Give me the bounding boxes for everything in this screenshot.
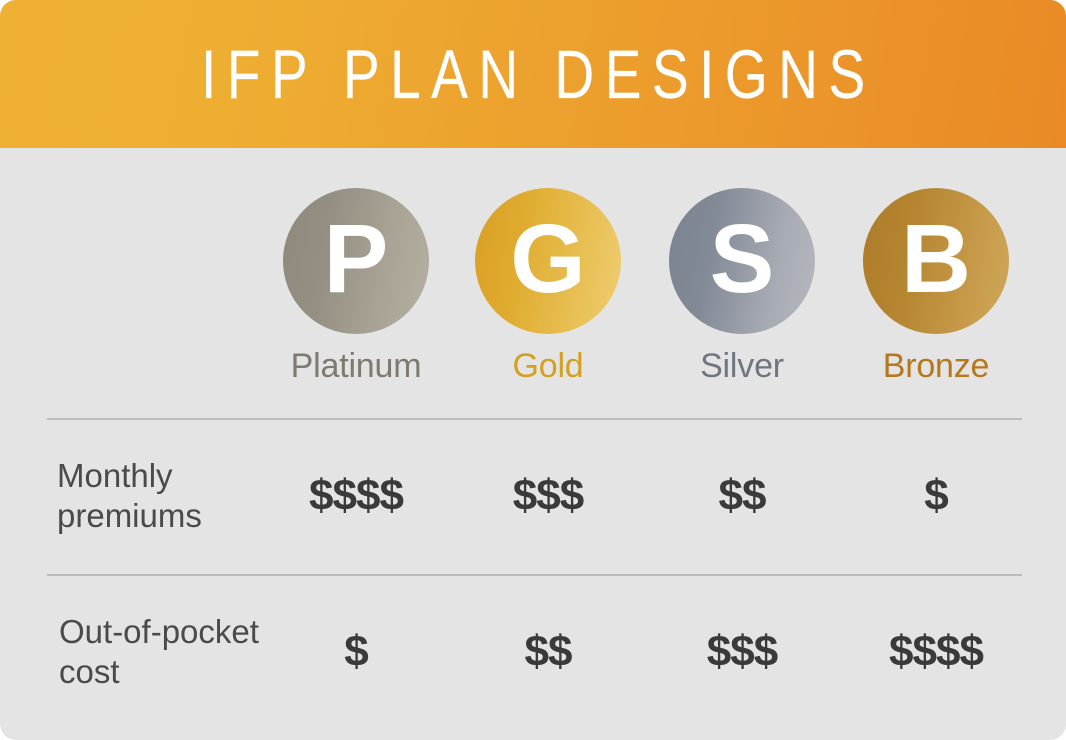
plan-badge-gold: G — [475, 188, 621, 334]
plan-label-gold: Gold — [458, 348, 638, 385]
cell-out-of-pocket-platinum: $ — [266, 574, 446, 730]
plan-badges-row: P Platinum G Gold S Silver B Bronze — [0, 188, 1066, 400]
plan-badge-platinum: P — [283, 188, 429, 334]
cell-monthly-premiums-gold: $$$ — [458, 418, 638, 574]
row-label-monthly-premiums: Monthly premiums — [57, 418, 287, 574]
table-row: Monthly premiums $$$$ $$$ $$ $ — [0, 418, 1066, 574]
plan-column-platinum: P Platinum — [266, 188, 446, 385]
plan-label-bronze: Bronze — [846, 348, 1026, 385]
cell-out-of-pocket-bronze: $$$$ — [846, 574, 1026, 730]
table-row: Out-of-pocket cost $ $$ $$$ $$$$ — [0, 574, 1066, 730]
plan-badge-letter: S — [710, 210, 775, 307]
cell-monthly-premiums-silver: $$ — [652, 418, 832, 574]
plan-label-platinum: Platinum — [266, 348, 446, 385]
cell-monthly-premiums-platinum: $$$$ — [266, 418, 446, 574]
cell-out-of-pocket-silver: $$$ — [652, 574, 832, 730]
page-title: IFP PLAN DESIGNS — [190, 40, 875, 109]
cell-out-of-pocket-gold: $$ — [458, 574, 638, 730]
plan-label-silver: Silver — [652, 348, 832, 385]
plan-column-gold: G Gold — [458, 188, 638, 385]
plan-badge-letter: P — [324, 210, 389, 307]
plan-column-bronze: B Bronze — [846, 188, 1026, 385]
infographic-card: IFP PLAN DESIGNS P Platinum G Gold S Sil… — [0, 0, 1066, 740]
plan-column-silver: S Silver — [652, 188, 832, 385]
cell-monthly-premiums-bronze: $ — [846, 418, 1026, 574]
plan-badge-silver: S — [669, 188, 815, 334]
plan-badge-bronze: B — [863, 188, 1009, 334]
plan-badge-letter: B — [901, 210, 971, 307]
plan-badge-letter: G — [510, 210, 585, 307]
header-banner: IFP PLAN DESIGNS — [0, 0, 1066, 148]
